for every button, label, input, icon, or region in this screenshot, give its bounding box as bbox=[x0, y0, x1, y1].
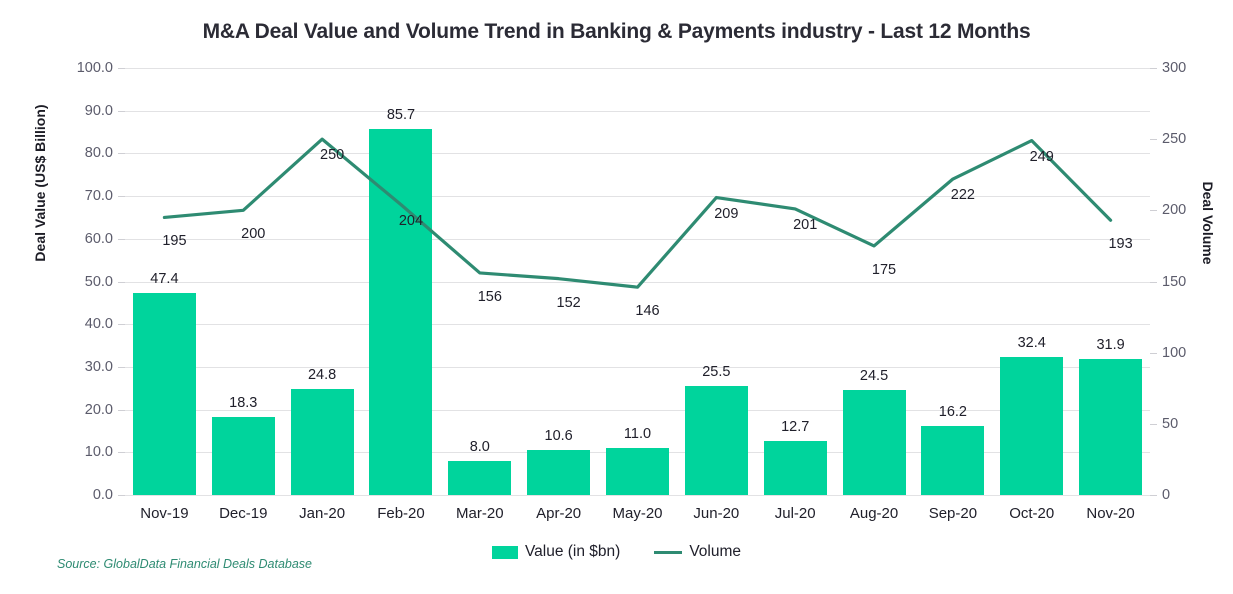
legend-bar-swatch-icon bbox=[492, 546, 518, 559]
y-axis-left-tick-mark bbox=[118, 410, 125, 411]
x-axis-label: Mar-20 bbox=[456, 505, 504, 522]
y-axis-right-tick-mark bbox=[1150, 282, 1157, 283]
y-axis-left-tick-label: 20.0 bbox=[13, 402, 113, 418]
line-value-label: 175 bbox=[872, 262, 896, 278]
x-axis-label: Jan-20 bbox=[299, 505, 345, 522]
plot-area: 0.010.020.030.040.050.060.070.080.090.01… bbox=[125, 68, 1150, 495]
line-value-label: 201 bbox=[793, 217, 817, 233]
x-axis-label: Nov-19 bbox=[140, 505, 188, 522]
y-axis-left-tick-label: 100.0 bbox=[13, 60, 113, 76]
bar-value-label: 24.8 bbox=[308, 367, 336, 383]
y-axis-left-tick-mark bbox=[118, 196, 125, 197]
x-axis-label: Feb-20 bbox=[377, 505, 425, 522]
x-axis-label: Apr-20 bbox=[536, 505, 581, 522]
y-axis-left-tick-label: 80.0 bbox=[13, 145, 113, 161]
y-axis-left-tick-mark bbox=[118, 239, 125, 240]
y-axis-left-tick-label: 60.0 bbox=[13, 231, 113, 247]
bar-value-label: 18.3 bbox=[229, 395, 257, 411]
y-axis-left-tick-mark bbox=[118, 282, 125, 283]
x-axis-label: Nov-20 bbox=[1086, 505, 1134, 522]
x-axis-label: Oct-20 bbox=[1009, 505, 1054, 522]
y-axis-left-tick-mark bbox=[118, 452, 125, 453]
y-axis-right-tick-label: 250 bbox=[1162, 131, 1233, 147]
y-axis-right-tick-label: 100 bbox=[1162, 345, 1233, 361]
legend-line-swatch-icon bbox=[654, 551, 682, 554]
x-axis-label: Jul-20 bbox=[775, 505, 816, 522]
line-value-label: 250 bbox=[320, 147, 344, 163]
y-axis-left-tick-mark bbox=[118, 495, 125, 496]
line-value-label: 204 bbox=[399, 213, 423, 229]
y-axis-left-tick-label: 0.0 bbox=[13, 487, 113, 503]
line-value-label: 156 bbox=[478, 289, 502, 305]
y-axis-left-tick-label: 90.0 bbox=[13, 103, 113, 119]
y-axis-left-tick-label: 40.0 bbox=[13, 316, 113, 332]
line-value-label: 249 bbox=[1030, 149, 1054, 165]
bar-value-label: 10.6 bbox=[545, 428, 573, 444]
y-axis-right-tick-label: 0 bbox=[1162, 487, 1233, 503]
y-axis-right-tick-label: 300 bbox=[1162, 60, 1233, 76]
y-axis-right-tick-mark bbox=[1150, 353, 1157, 354]
y-axis-left-tick-mark bbox=[118, 68, 125, 69]
bar-value-label: 31.9 bbox=[1096, 337, 1124, 353]
bar-value-label: 32.4 bbox=[1018, 335, 1046, 351]
y-axis-right-tick-mark bbox=[1150, 210, 1157, 211]
y-axis-left-tick-label: 50.0 bbox=[13, 274, 113, 290]
volume-line[interactable] bbox=[164, 139, 1110, 287]
gridline bbox=[125, 495, 1150, 496]
bar-value-label: 25.5 bbox=[702, 364, 730, 380]
legend-item-volume[interactable]: Volume bbox=[654, 543, 741, 561]
y-axis-right-tick-mark bbox=[1150, 139, 1157, 140]
legend-item-value[interactable]: Value (in $bn) bbox=[492, 543, 620, 561]
bar-value-label: 12.7 bbox=[781, 419, 809, 435]
y-axis-right-tick-mark bbox=[1150, 495, 1157, 496]
legend-label-volume: Volume bbox=[689, 543, 741, 561]
y-axis-right-tick-mark bbox=[1150, 68, 1157, 69]
y-axis-right-tick-label: 50 bbox=[1162, 416, 1233, 432]
line-value-label: 152 bbox=[557, 295, 581, 311]
line-value-label: 195 bbox=[162, 233, 186, 249]
bar-value-label: 47.4 bbox=[150, 271, 178, 287]
bar-value-label: 24.5 bbox=[860, 368, 888, 384]
x-axis-label: Aug-20 bbox=[850, 505, 898, 522]
chart-title: M&A Deal Value and Volume Trend in Banki… bbox=[0, 20, 1233, 44]
line-value-label: 209 bbox=[714, 206, 738, 222]
x-axis-label: Jun-20 bbox=[693, 505, 739, 522]
bar-value-label: 85.7 bbox=[387, 107, 415, 123]
chart-page: M&A Deal Value and Volume Trend in Banki… bbox=[0, 0, 1233, 594]
line-value-label: 146 bbox=[635, 303, 659, 319]
x-axis-label: May-20 bbox=[612, 505, 662, 522]
bar-value-label: 11.0 bbox=[624, 426, 651, 442]
y-axis-left-tick-mark bbox=[118, 153, 125, 154]
line-value-label: 193 bbox=[1108, 236, 1132, 252]
y-axis-right-tick-mark bbox=[1150, 424, 1157, 425]
source-note: Source: GlobalData Financial Deals Datab… bbox=[57, 557, 312, 571]
y-axis-left-tick-label: 10.0 bbox=[13, 444, 113, 460]
bar-value-label: 8.0 bbox=[470, 439, 490, 455]
y-axis-left-tick-label: 30.0 bbox=[13, 359, 113, 375]
line-value-label: 222 bbox=[951, 187, 975, 203]
x-axis-label: Dec-19 bbox=[219, 505, 267, 522]
bar-value-label: 16.2 bbox=[939, 404, 967, 420]
y-axis-left-tick-label: 70.0 bbox=[13, 188, 113, 204]
y-axis-left-tick-mark bbox=[118, 367, 125, 368]
y-axis-right-tick-label: 200 bbox=[1162, 202, 1233, 218]
y-axis-right-tick-label: 150 bbox=[1162, 274, 1233, 290]
x-axis-label: Sep-20 bbox=[929, 505, 977, 522]
line-value-label: 200 bbox=[241, 226, 265, 242]
y-axis-left-tick-mark bbox=[118, 111, 125, 112]
legend-label-value: Value (in $bn) bbox=[525, 543, 620, 561]
y-axis-left-tick-mark bbox=[118, 324, 125, 325]
